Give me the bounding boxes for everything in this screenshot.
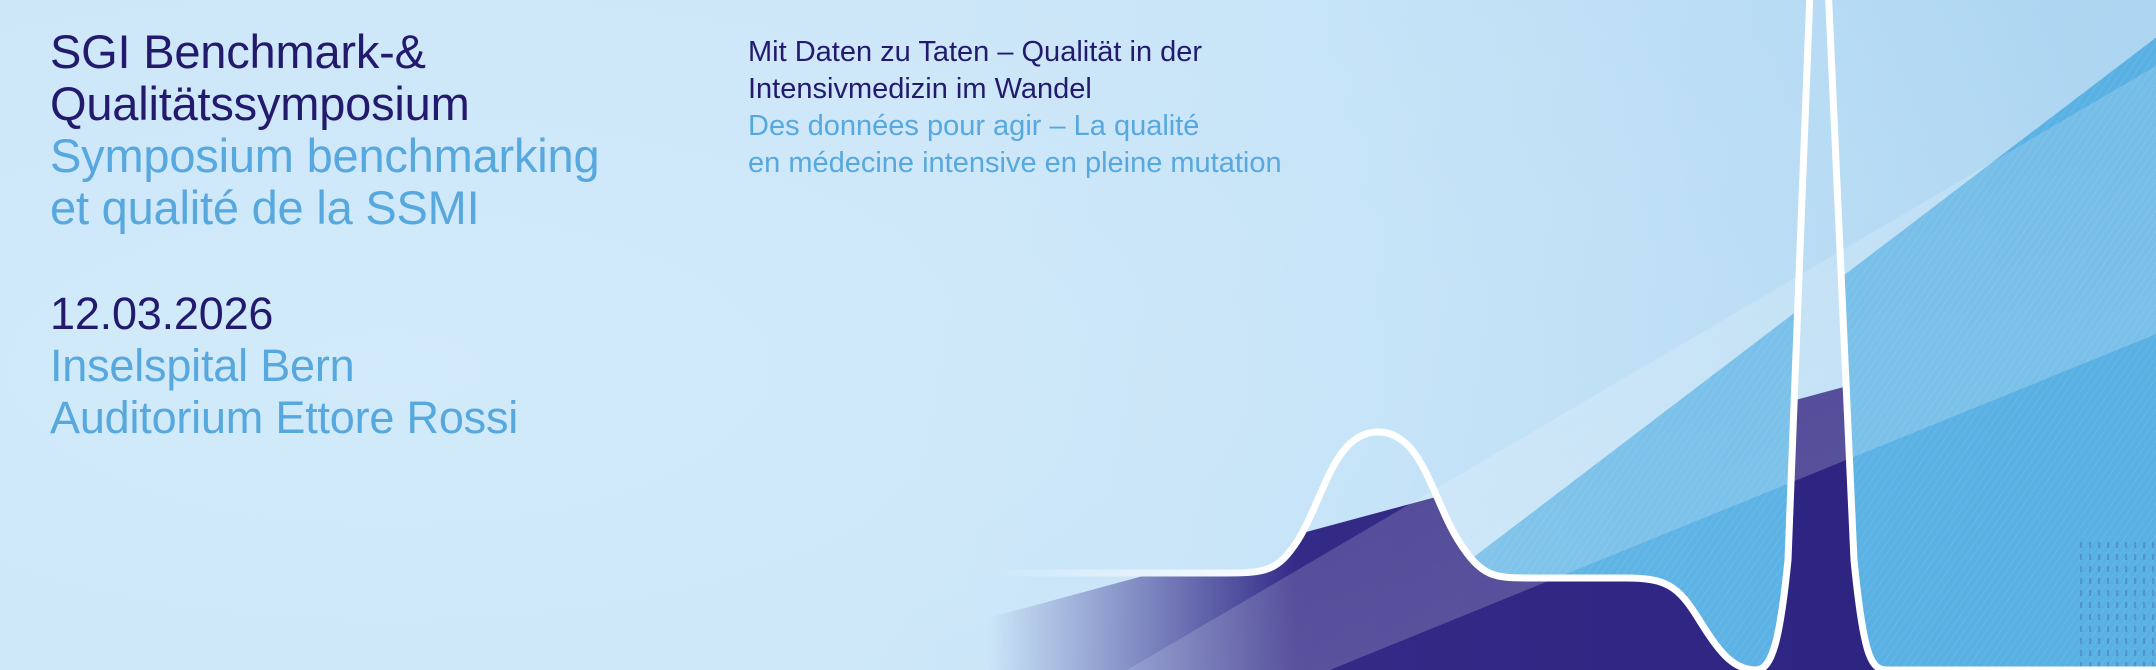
event-date: 12.03.2026	[50, 288, 810, 340]
event-banner: SGI Benchmark-& Qualitätssymposium Sympo…	[0, 0, 2156, 670]
event-subtitle-de: Mit Daten zu Taten – Qualität in der Int…	[748, 34, 1508, 108]
event-venue: Inselspital Bern Auditorium Ettore Rossi	[50, 340, 810, 444]
event-subtitle-fr: Des données pour agir – La qualité en mé…	[748, 108, 1508, 182]
page-title-de: SGI Benchmark-& Qualitätssymposium	[50, 26, 750, 130]
page-title-fr: Symposium benchmarking et qualité de la …	[50, 130, 750, 234]
left-title-block: SGI Benchmark-& Qualitätssymposium Sympo…	[50, 26, 750, 234]
subtitle-block: Mit Daten zu Taten – Qualität in der Int…	[748, 34, 1508, 182]
event-details-block: 12.03.2026 Inselspital Bern Auditorium E…	[50, 288, 810, 444]
